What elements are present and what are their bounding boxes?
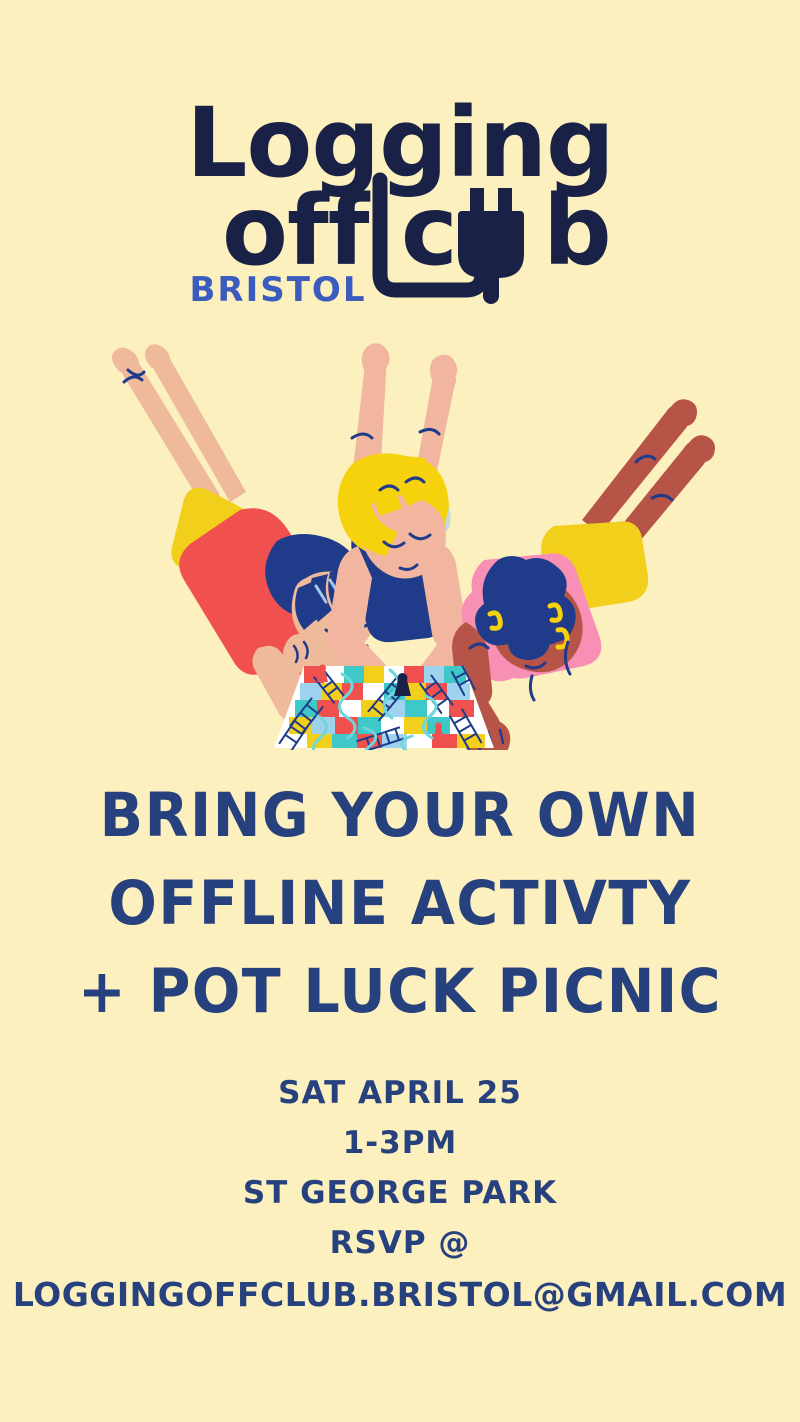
logging-off-club-logo: Logging off c b BRISTOL xyxy=(0,96,800,311)
headline-line-1: BRING YOUR OWN xyxy=(0,769,800,862)
event-details: SAT APRIL 25 1-3PM ST GEORGE PARK RSVP @… xyxy=(0,1068,800,1320)
logo-block: Logging off c b BRISTOL xyxy=(0,96,800,311)
illustration-container xyxy=(80,330,720,750)
event-location: ST GEORGE PARK xyxy=(0,1168,800,1218)
snakes-and-ladders-board xyxy=(274,665,494,751)
headline-line-3: + POT LUCK PICNIC xyxy=(0,945,800,1038)
logo-location-bristol: BRISTOL xyxy=(190,270,367,310)
headline-line-2: OFFLINE ACTIVTY xyxy=(0,857,800,950)
figure-center xyxy=(327,343,466,723)
headline: BRING YOUR OWN OFFLINE ACTIVTY + POT LUC… xyxy=(0,772,800,1036)
event-date: SAT APRIL 25 xyxy=(0,1068,800,1118)
logo-line-two-suffix: b xyxy=(543,175,611,287)
three-people-playing-board-game-illustration xyxy=(80,330,720,750)
rsvp-label: RSVP @ xyxy=(0,1218,800,1268)
event-time: 1-3PM xyxy=(0,1118,800,1168)
rsvp-email[interactable]: LOGGINGOFFCLUB.BRISTOL@GMAIL.COM xyxy=(0,1270,800,1320)
figure-right xyxy=(450,399,715,750)
event-poster: Logging off c b BRISTOL xyxy=(0,0,800,1422)
figure-left xyxy=(112,344,376,722)
